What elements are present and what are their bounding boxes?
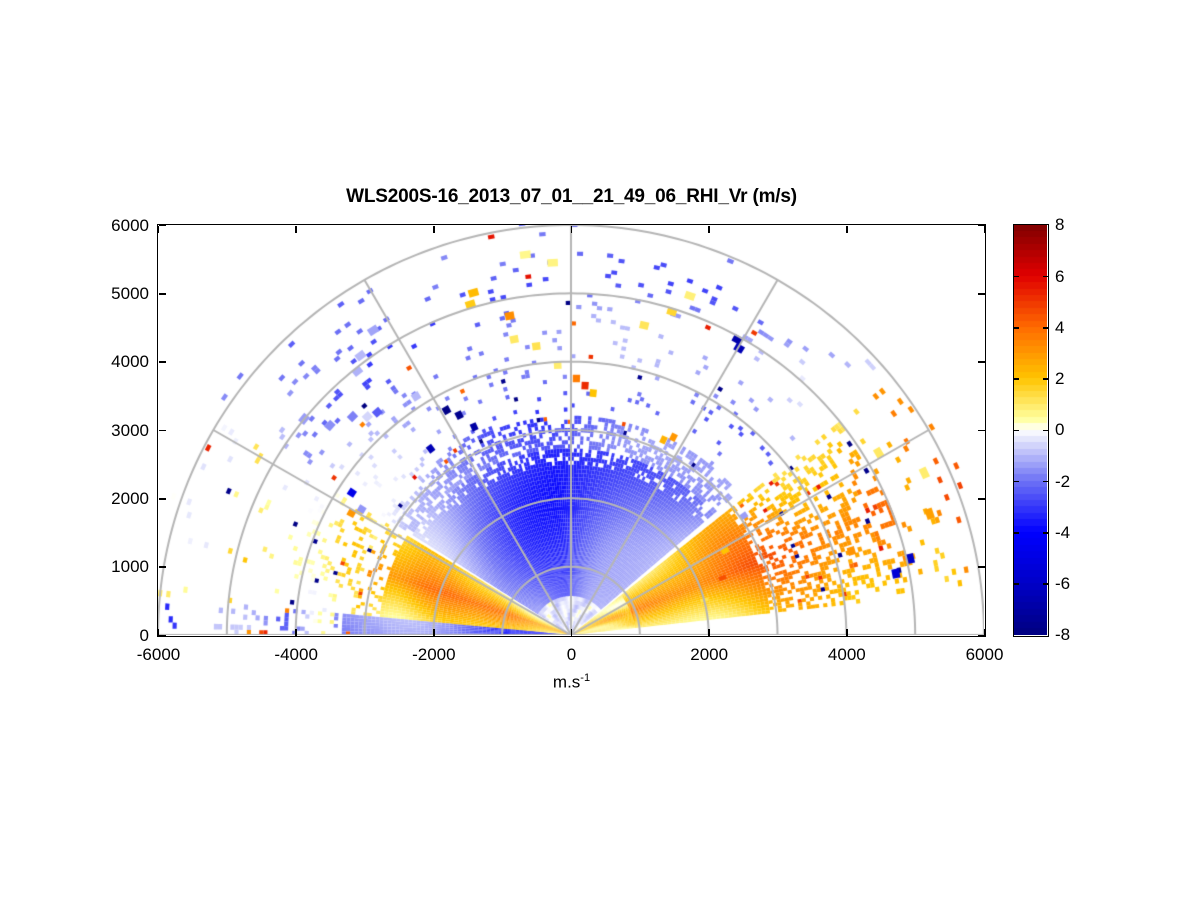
y-tick-mark xyxy=(159,361,166,362)
colorbar-tick-label: 0 xyxy=(1055,420,1064,440)
x-tick-mark xyxy=(708,226,709,233)
x-tick-label: -6000 xyxy=(137,645,180,665)
polar-plot-axes xyxy=(157,224,986,637)
x-tick-mark xyxy=(984,226,985,233)
colorbar-tick-mark xyxy=(1013,481,1019,482)
y-tick-label: 0 xyxy=(87,626,149,646)
x-tick-mark xyxy=(846,226,847,233)
x-tick-mark xyxy=(846,629,847,636)
colorbar: -8-6-4-202468 xyxy=(1013,224,1049,637)
x-tick-label: 0 xyxy=(567,645,576,665)
x-tick-mark xyxy=(708,629,709,636)
colorbar-tick-label: 8 xyxy=(1055,215,1064,235)
x-tick-label: -4000 xyxy=(274,645,317,665)
y-tick-label: 2000 xyxy=(87,489,149,509)
x-tick-label: 6000 xyxy=(966,645,1004,665)
y-tick-mark xyxy=(978,498,985,499)
y-tick-mark xyxy=(159,498,166,499)
colorbar-tick-label: 4 xyxy=(1055,318,1064,338)
x-tick-mark xyxy=(571,226,572,233)
colorbar-tick-mark xyxy=(1013,532,1019,533)
y-tick-mark xyxy=(978,293,985,294)
colorbar-tick-mark xyxy=(1043,481,1049,482)
colorbar-tick-label: 6 xyxy=(1055,267,1064,287)
x-tick-mark xyxy=(295,226,296,233)
colorbar-tick-label: -6 xyxy=(1055,574,1070,594)
colorbar-tick-mark xyxy=(1043,327,1049,328)
colorbar-tick-mark xyxy=(1013,378,1019,379)
y-tick-label: 1000 xyxy=(87,557,149,577)
y-tick-mark xyxy=(978,566,985,567)
y-tick-mark xyxy=(159,225,166,226)
y-tick-label: 3000 xyxy=(87,421,149,441)
y-tick-label: 4000 xyxy=(87,352,149,372)
colorbar-tick-mark xyxy=(1043,583,1049,584)
colorbar-tick-mark xyxy=(1013,430,1019,431)
y-tick-mark xyxy=(159,430,166,431)
y-tick-mark xyxy=(159,635,166,636)
x-axis-label: m.s-1 xyxy=(157,672,986,693)
colorbar-tick-label: -4 xyxy=(1055,523,1070,543)
colorbar-tick-mark xyxy=(1013,327,1019,328)
x-tick-label: 2000 xyxy=(690,645,728,665)
page-title: WLS200S-16_2013_07_01__21_49_06_RHI_Vr (… xyxy=(157,186,986,208)
colorbar-tick-label: 2 xyxy=(1055,369,1064,389)
x-tick-mark xyxy=(433,629,434,636)
colorbar-tick-mark xyxy=(1043,532,1049,533)
x-axis-label-exponent: -1 xyxy=(580,672,590,684)
y-tick-mark xyxy=(159,293,166,294)
x-tick-label: -2000 xyxy=(412,645,455,665)
figure-canvas: WLS200S-16_2013_07_01__21_49_06_RHI_Vr (… xyxy=(0,0,1201,901)
x-tick-mark xyxy=(295,629,296,636)
y-tick-mark xyxy=(978,361,985,362)
colorbar-tick-mark xyxy=(1043,378,1049,379)
x-tick-mark xyxy=(571,629,572,636)
colorbar-tick-label: -8 xyxy=(1055,625,1070,645)
colorbar-tick-mark xyxy=(1013,583,1019,584)
y-tick-label: 5000 xyxy=(87,284,149,304)
colorbar-tick-label: -2 xyxy=(1055,472,1070,492)
colorbar-tick-mark xyxy=(1043,276,1049,277)
rhi-scan-heatmap xyxy=(158,225,984,635)
x-axis-label-text: m.s xyxy=(553,673,580,692)
x-tick-mark xyxy=(433,226,434,233)
colorbar-tick-mark xyxy=(1043,430,1049,431)
y-tick-mark xyxy=(978,635,985,636)
colorbar-tick-mark xyxy=(1013,276,1019,277)
y-tick-mark xyxy=(159,566,166,567)
x-tick-label: 4000 xyxy=(828,645,866,665)
x-tick-mark xyxy=(158,226,159,233)
y-tick-mark xyxy=(978,430,985,431)
y-tick-label: 6000 xyxy=(87,216,149,236)
y-tick-mark xyxy=(978,225,985,226)
